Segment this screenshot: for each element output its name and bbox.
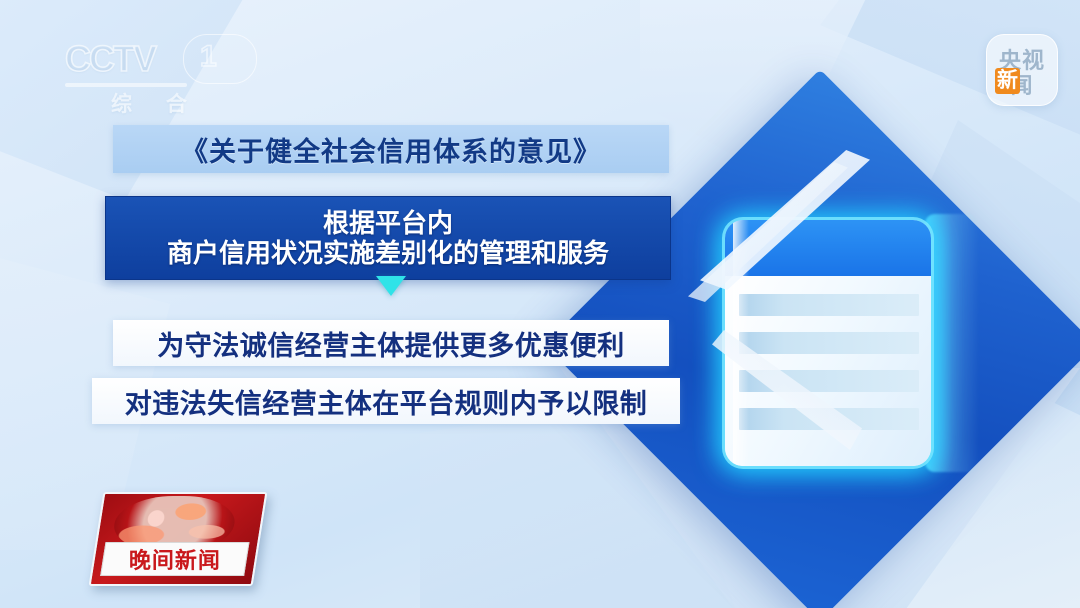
document-text-line <box>739 408 919 430</box>
cctv-underline <box>65 83 187 87</box>
document-sheen <box>733 220 749 466</box>
document-text-line <box>739 332 919 354</box>
cctv-channel-subtitle: 综 合 <box>111 88 201 118</box>
program-name-text: 晚间新闻 <box>129 543 221 575</box>
document-body <box>725 276 931 466</box>
policy-title-panel: 《关于健全社会信用体系的意见》 <box>113 125 669 173</box>
down-arrow-icon <box>376 276 406 296</box>
cctv-channel-logo: CCTV 1 综 合 <box>65 36 255 116</box>
cctv-news-badge: 央视 闻 新 <box>986 34 1058 106</box>
outcome-restriction-text: 对违法失信经营主体在平台规则内予以限制 <box>125 382 648 421</box>
document-diamond-graphic <box>625 150 1015 540</box>
outcome-panel-benefit: 为守法诚信经营主体提供更多优惠便利 <box>113 320 669 366</box>
main-statement-line-2: 商户信用状况实施差别化的管理和服务 <box>167 238 609 268</box>
cctv-news-badge-highlight: 新 <box>995 68 1020 94</box>
policy-title-text: 《关于健全社会信用体系的意见》 <box>181 130 601 169</box>
main-statement-panel: 根据平台内 商户信用状况实施差别化的管理和服务 <box>105 196 671 280</box>
broadcast-frame: CCTV 1 综 合 央视 闻 新 《关于健全社会信用体系的意见》 根据平台内 … <box>0 0 1080 608</box>
program-logo: 晚间新闻 <box>89 492 268 586</box>
cctv-logo-mark: CCTV 1 <box>65 36 255 86</box>
cctv-channel-number: 1 <box>200 40 217 74</box>
main-statement-line-1: 根据平台内 <box>323 208 453 238</box>
document-text-line <box>739 370 919 392</box>
document-icon <box>725 220 931 466</box>
document-text-line <box>739 294 919 316</box>
cctv-wordmark: CCTV <box>65 38 155 80</box>
program-name-band: 晚间新闻 <box>100 542 249 576</box>
cctv-channel-number-badge: 1 <box>183 34 257 84</box>
outcome-benefit-text: 为守法诚信经营主体提供更多优惠便利 <box>157 324 625 363</box>
document-edge-glow <box>925 214 979 472</box>
outcome-panel-restriction: 对违法失信经营主体在平台规则内予以限制 <box>92 378 680 424</box>
document-header-bar <box>725 220 931 276</box>
